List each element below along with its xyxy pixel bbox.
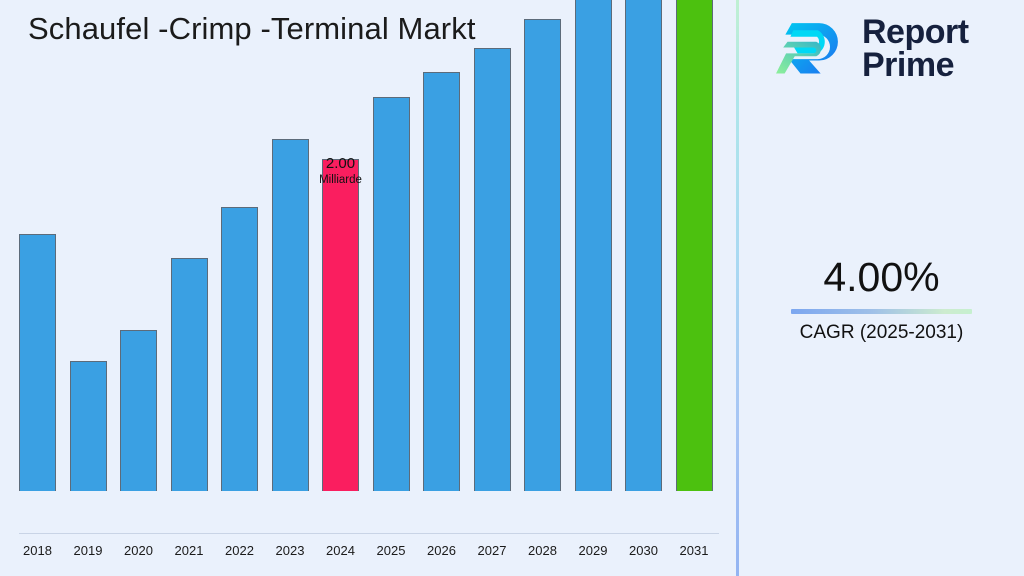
bar-2028[interactable] [524, 19, 561, 491]
x-tick-2031: 2031 [664, 543, 724, 558]
cagr-value: 4.00% [739, 253, 1024, 301]
chart-panel: Schaufel -Crimp -Terminal Markt 2.00Mill… [0, 0, 737, 576]
bar-2018[interactable] [19, 234, 56, 491]
bar-2020[interactable] [120, 330, 157, 491]
bar-2019[interactable] [70, 361, 107, 491]
bar-2021[interactable] [171, 258, 208, 491]
cagr-divider-rule [791, 309, 972, 314]
cagr-block: 4.00% CAGR (2025-2031) [739, 253, 1024, 345]
bar-2031[interactable] [676, 0, 713, 491]
bar-2029[interactable] [575, 0, 612, 491]
report-prime-logo-mark-icon [776, 13, 848, 85]
bar-2024[interactable] [322, 159, 359, 491]
logo-line-2: Prime [862, 49, 969, 82]
bar-2027[interactable] [474, 48, 511, 491]
bar-2023[interactable] [272, 139, 309, 491]
bar-chart-plot: 2.00Milliarde2.63Milliarde 2018201920202… [0, 0, 737, 534]
bar-2030[interactable] [625, 0, 662, 491]
logo-line-1: Report [862, 16, 969, 49]
x-axis-line [19, 533, 719, 534]
report-prime-logo[interactable]: Report Prime [776, 13, 969, 85]
bar-2026[interactable] [423, 72, 460, 491]
right-panel: Report Prime 4.00% CAGR (2025-2031) [739, 0, 1024, 576]
bar-2025[interactable] [373, 97, 410, 491]
cagr-caption: CAGR (2025-2031) [739, 321, 1024, 345]
bar-2022[interactable] [221, 207, 258, 491]
report-prime-logo-text: Report Prime [862, 16, 969, 82]
